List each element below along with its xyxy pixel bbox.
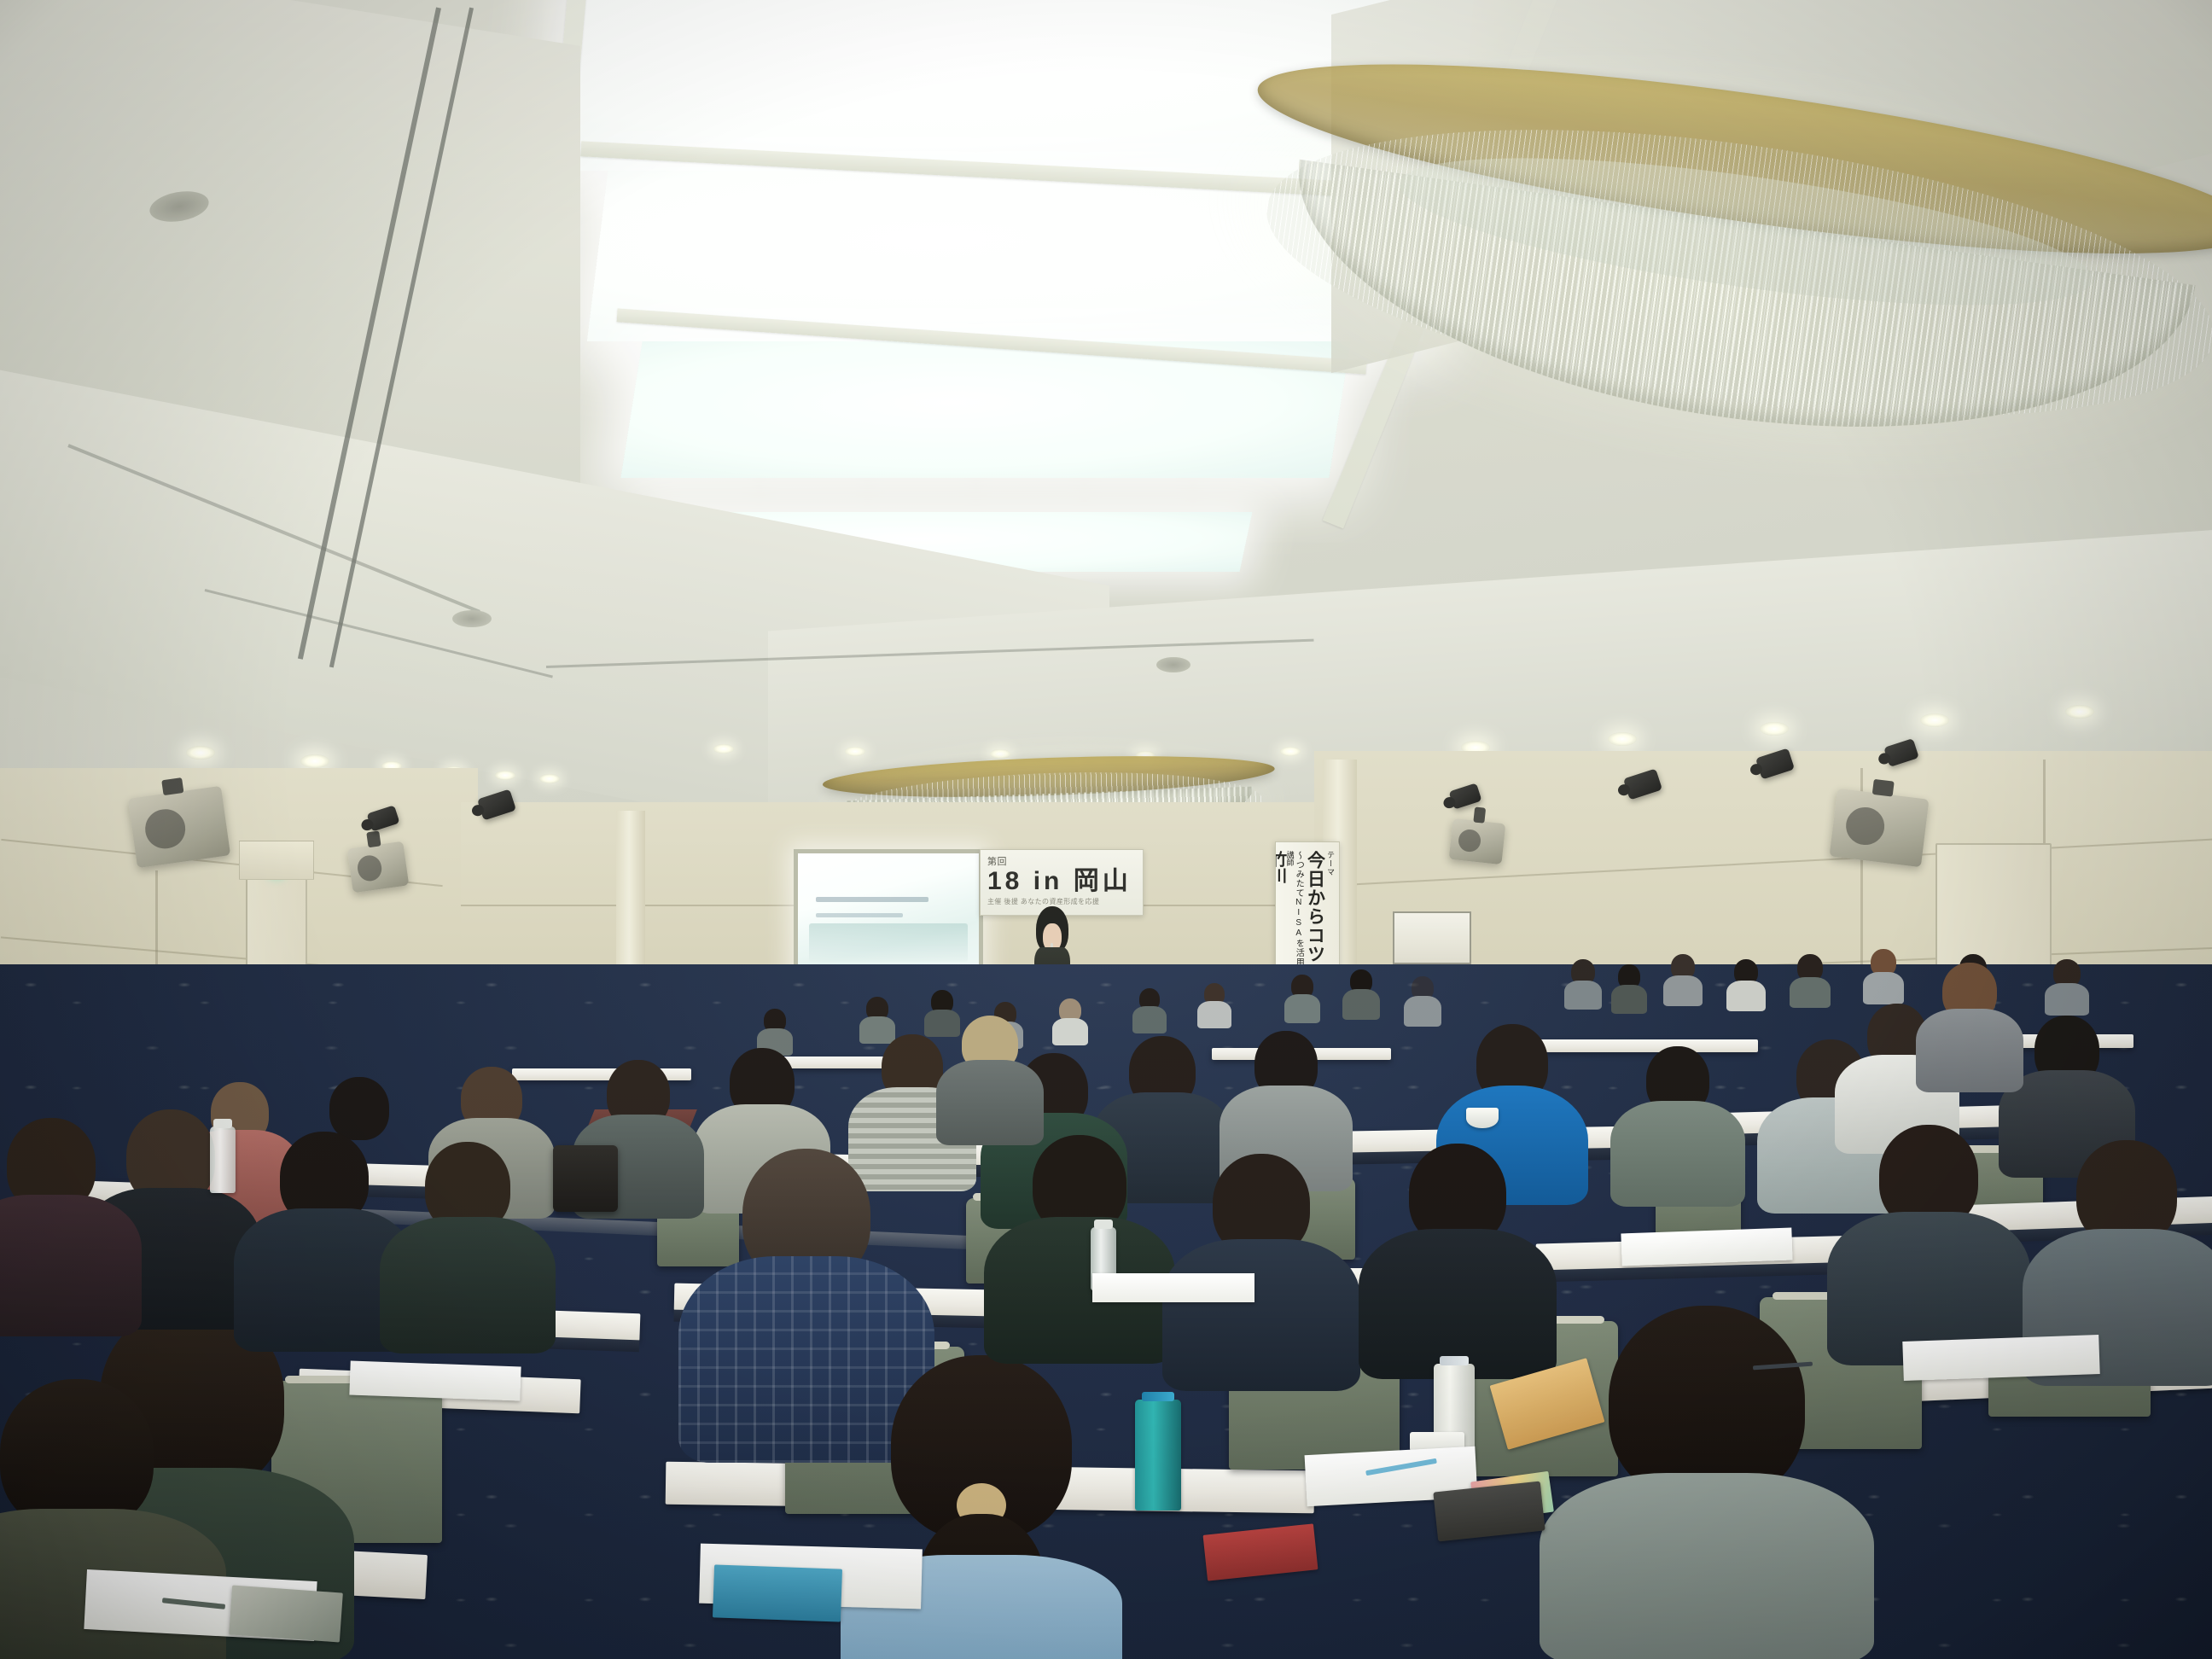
ceiling-vent-3 xyxy=(1156,657,1190,672)
speaker-mount xyxy=(161,777,183,795)
person-mid-center-beige-hat xyxy=(949,1016,1031,1128)
person-mid-dark-right xyxy=(2016,1016,2118,1159)
torso xyxy=(1564,981,1602,1010)
banner-subline: 主催 後援 あなたの資産形成を応援 xyxy=(987,897,1136,906)
person-far-c3 xyxy=(1406,976,1439,1024)
torso xyxy=(1611,985,1647,1014)
torso xyxy=(1610,1101,1745,1207)
torso xyxy=(1404,996,1441,1027)
ceiling xyxy=(0,0,2212,862)
torso xyxy=(2045,983,2089,1016)
person-far-c1 xyxy=(1287,975,1318,1021)
wall-speaker-right-1 xyxy=(1830,789,1930,868)
downlight-1 xyxy=(186,746,215,760)
person-near-center-2 xyxy=(1186,1154,1336,1365)
vbanner-theme-label: テーマ xyxy=(1325,851,1334,876)
torso xyxy=(1663,975,1703,1006)
person-far-c4 xyxy=(1135,988,1164,1031)
vbanner-lecturer-label: 講師 xyxy=(1285,851,1294,866)
torso xyxy=(1726,981,1766,1011)
downlight-11 xyxy=(1280,747,1301,756)
person-far-r6 xyxy=(1866,949,1901,1000)
thermos-cap xyxy=(1440,1356,1470,1365)
slide-title-line xyxy=(816,897,928,902)
vbanner-lecturer-name: 竹川 xyxy=(1275,851,1285,883)
torso xyxy=(1916,1009,2023,1092)
torso xyxy=(1284,994,1320,1023)
speaker-mount xyxy=(1872,779,1895,797)
speaker-mount xyxy=(366,830,381,847)
wall-speaker-right-2 xyxy=(1449,818,1506,864)
downlight-8 xyxy=(845,747,865,756)
teacup-mid-right xyxy=(1466,1108,1499,1128)
person-mid-brown-hair-right xyxy=(1929,963,2011,1075)
door-left-header xyxy=(239,841,314,880)
torso xyxy=(1132,1006,1167,1033)
banner-headline: 18 in 岡山 xyxy=(987,869,1136,894)
person-far-l4 xyxy=(760,1009,790,1053)
booklet-pattern-left xyxy=(229,1586,343,1643)
bottle-cap xyxy=(1142,1392,1175,1401)
torso xyxy=(1790,977,1831,1008)
torso xyxy=(380,1217,556,1353)
person-far-r2 xyxy=(1613,964,1645,1012)
person-near-center-1 xyxy=(1007,1135,1152,1340)
speaker-mount xyxy=(1473,806,1486,823)
person-far-r3 xyxy=(1666,954,1700,1004)
ceiling-vent-2 xyxy=(452,610,492,627)
person-mid-green-coat xyxy=(1627,1046,1729,1190)
person-far-r5 xyxy=(1792,954,1828,1005)
torso-grey-sweater xyxy=(1540,1473,1874,1659)
downlight-7 xyxy=(713,744,734,754)
person-mid-center-grey xyxy=(1236,1031,1336,1174)
person-far-r4 xyxy=(1729,959,1763,1009)
downlight-6 xyxy=(539,774,560,783)
person-near-right-2 xyxy=(1852,1125,2005,1338)
bottle-cap xyxy=(1094,1220,1113,1229)
downlight-5 xyxy=(495,771,515,780)
bottle-cap xyxy=(213,1119,232,1128)
handout-paper-5 xyxy=(1621,1228,1792,1266)
downlight-2 xyxy=(300,754,329,768)
handout-paper-6 xyxy=(1092,1273,1254,1302)
banner-small-top: 第回 xyxy=(987,858,1136,867)
slide-photo-area xyxy=(809,923,969,963)
downlight-15 xyxy=(1920,713,1949,727)
torso xyxy=(1162,1239,1360,1391)
person-near-right-1 xyxy=(1382,1144,1533,1353)
handout-paper-3 xyxy=(1902,1335,2099,1381)
downlight-13 xyxy=(1608,732,1637,746)
water-bottle-teal xyxy=(1135,1400,1181,1511)
torso xyxy=(0,1195,142,1336)
person-far-l5 xyxy=(1055,998,1086,1043)
downlight-14 xyxy=(1760,722,1789,736)
seminar-hall-photo: 第回 18 in 岡山 主催 後援 あなたの資産形成を応援 テーマ 今日からコツ… xyxy=(0,0,2212,1659)
person-far-r1 xyxy=(1567,959,1599,1007)
person-fg-grey-sweater-woman xyxy=(1562,1306,1852,1659)
wall-speaker-left-2 xyxy=(347,841,410,894)
slide-subtitle-line xyxy=(816,913,903,917)
torso xyxy=(1863,972,1904,1004)
torso xyxy=(1052,1018,1088,1045)
torso xyxy=(1197,1001,1231,1028)
downlight-16 xyxy=(2065,705,2094,719)
person-near-left-4 xyxy=(401,1142,534,1333)
person-near-left-2 xyxy=(0,1118,119,1314)
booklet-teal-cover xyxy=(713,1564,842,1621)
wall-speaker-left-1 xyxy=(128,786,230,869)
whiteboard-right xyxy=(1393,911,1471,964)
person-far-r8 xyxy=(2048,959,2086,1012)
handout-paper-7 xyxy=(349,1361,521,1401)
person-far-c2 xyxy=(1345,969,1377,1017)
torso xyxy=(1342,989,1380,1020)
person-near-left-3 xyxy=(256,1132,393,1328)
water-bottle-clear xyxy=(210,1126,236,1193)
person-far-c5 xyxy=(1200,983,1229,1026)
person-near-right-3 xyxy=(2048,1140,2205,1359)
handbag-on-chair xyxy=(553,1145,618,1212)
torso xyxy=(936,1060,1044,1145)
person-fg-ponytail-woman xyxy=(853,1355,1109,1659)
